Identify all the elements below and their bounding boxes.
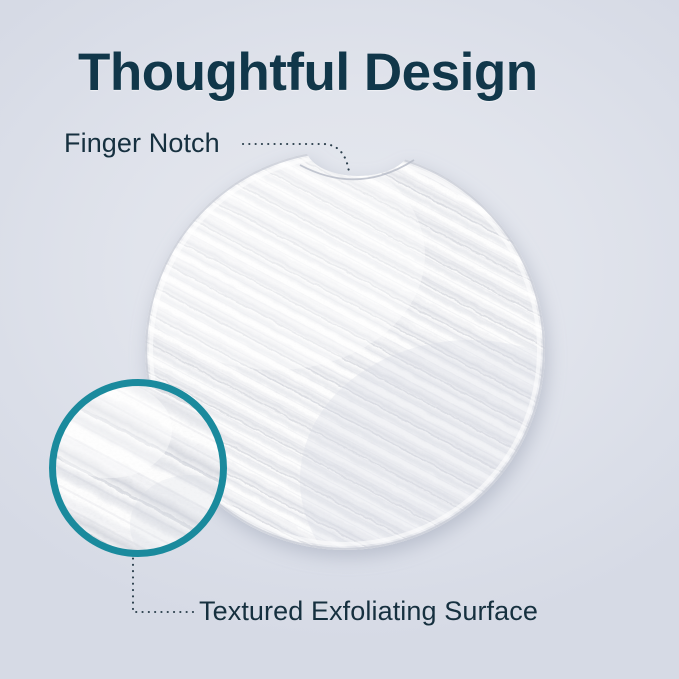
surface-magnifier [0,0,679,679]
product-feature-graphic: Thoughtful Design Finger Notch Textured … [0,0,679,679]
